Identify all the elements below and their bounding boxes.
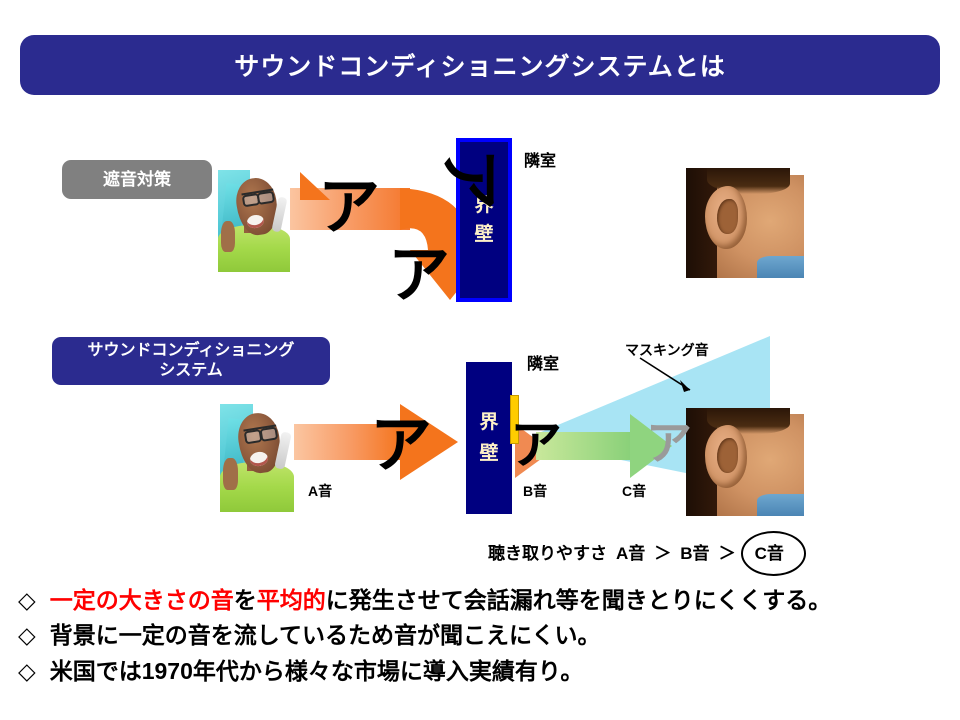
photo-hand xyxy=(221,221,235,252)
label-sound-c: C音 xyxy=(622,481,646,501)
diamond-marker-icon: ◇ xyxy=(18,586,36,615)
wall-label-heki-top: 壁 xyxy=(474,225,493,244)
bullet-text: 一定の大きさの音を平均的に発生させて会話漏れ等を聞きとりにくくする。 xyxy=(50,586,832,615)
photo-man-on-phone-bottom xyxy=(220,404,294,512)
diamond-marker-icon: ◇ xyxy=(18,657,36,686)
diamond-marker-icon: ◇ xyxy=(18,621,36,650)
label-sound-b: B音 xyxy=(523,481,547,501)
wall-label-heki-bottom: 壁 xyxy=(479,444,498,463)
bullet-item: ◇ 米国では1970年代から様々な市場に導入実績有り。 xyxy=(18,657,948,686)
bullet-segment: 背景に一定の音を流しているため音が聞こえにくい。 xyxy=(50,622,601,648)
label-masking-sound: マスキング音 xyxy=(625,340,709,360)
comparison-first: A音 xyxy=(616,539,645,564)
sound-glyph-a5: ア xyxy=(510,420,562,472)
bullet-text: 背景に一定の音を流しているため音が聞こえにくい。 xyxy=(50,621,601,650)
wall-partition-bottom: 界 壁 xyxy=(466,362,512,514)
sound-glyph-a2: ア xyxy=(438,148,500,210)
comparison-label: 聴き取りやすさ xyxy=(488,539,607,564)
bullet-segment: 米国では1970年代から様々な市場に導入実績有り。 xyxy=(50,658,584,684)
bullet-text: 米国では1970年代から様々な市場に導入実績有り。 xyxy=(50,657,584,686)
bullet-item: ◇ 一定の大きさの音を平均的に発生させて会話漏れ等を聞きとりにくくする。 xyxy=(18,586,948,615)
bullet-list: ◇ 一定の大きさの音を平均的に発生させて会話漏れ等を聞きとりにくくする。 ◇ 背… xyxy=(18,586,948,692)
label-adjacent-room-top: 隣室 xyxy=(524,147,556,171)
comparison-operator-2: ＞ xyxy=(719,539,736,564)
photo-ear-top xyxy=(686,168,804,278)
photo-ear-bottom xyxy=(686,408,804,516)
ear-inner xyxy=(717,199,738,234)
label-adjacent-room-bottom: 隣室 xyxy=(527,350,559,374)
photo-hand xyxy=(223,458,238,490)
audibility-comparison: 聴き取りやすさ A音 ＞ B音 ＞ C音 xyxy=(488,538,794,565)
ear-collar xyxy=(757,494,804,516)
comparison-third-highlighted: C音 xyxy=(745,538,794,565)
slide-canvas: サウンドコンディショニングシステムとは 遮音対策 サウンドコンディショニング シ… xyxy=(0,0,960,720)
comparison-second: B音 xyxy=(680,539,709,564)
bullet-item: ◇ 背景に一定の音を流しているため音が聞こえにくい。 xyxy=(18,621,948,650)
bullet-segment: を xyxy=(234,587,257,613)
label-sound-a: A音 xyxy=(308,481,332,501)
sound-glyph-a4: ア xyxy=(370,414,432,476)
ear-collar xyxy=(757,256,804,278)
photo-man-on-phone-top xyxy=(218,170,290,272)
bullet-segment: 一定の大きさの音 xyxy=(50,587,234,613)
sound-glyph-a3: ア xyxy=(388,244,450,306)
comparison-operator-1: ＞ xyxy=(654,539,671,564)
wall-label-kai-bottom: 界 xyxy=(479,413,498,432)
sound-glyph-a1: ア xyxy=(318,176,380,238)
ear-inner xyxy=(717,438,738,473)
sound-glyph-a6-masked: ア xyxy=(646,420,692,466)
bullet-segment: 平均的 xyxy=(257,587,326,613)
bullet-segment: に発生させて会話漏れ等を聞きとりにくくする。 xyxy=(326,587,832,613)
